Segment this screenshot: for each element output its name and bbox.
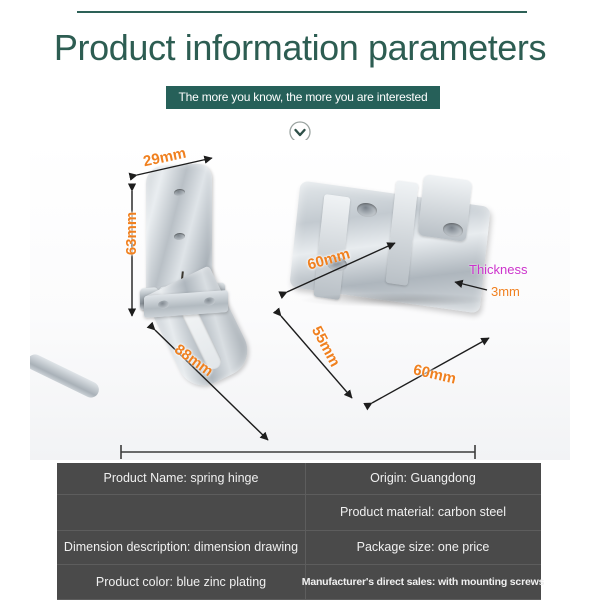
- screw-hole: [204, 297, 215, 306]
- product-info-page: Product information parameters The more …: [0, 0, 600, 600]
- product-photo-stage: [30, 140, 570, 460]
- table-row: Package size: one price: [305, 531, 541, 565]
- screw-hole: [174, 233, 185, 241]
- secondary-hinge-arm: [30, 352, 102, 401]
- dimension-label-hinge-height: 63mm: [123, 212, 140, 255]
- page-title: Product information parameters: [0, 26, 600, 70]
- dimension-label-thickness-value: 3mm: [491, 284, 520, 299]
- subtitle-text: The more you know, the more you are inte…: [179, 91, 428, 104]
- thickness-label: Thickness: [469, 262, 528, 277]
- table-row: Origin: Guangdong: [305, 463, 541, 495]
- spec-table-left-column: Product Name: spring hinge Dimension des…: [57, 463, 306, 600]
- specification-table: Product Name: spring hinge Dimension des…: [57, 463, 541, 600]
- bracket-shadow: [299, 293, 488, 307]
- spec-table-right-column: Origin: Guangdong Product material: carb…: [305, 463, 541, 600]
- spring-hinge-product-image: [130, 165, 260, 365]
- table-row: Product color: blue zinc plating: [57, 565, 305, 600]
- table-row: Dimension description: dimension drawing: [57, 531, 305, 565]
- table-row: Product material: carbon steel: [305, 495, 541, 531]
- subtitle-banner: The more you know, the more you are inte…: [166, 86, 440, 109]
- table-row: [57, 495, 305, 531]
- screw-hole: [174, 189, 185, 197]
- table-row: Product Name: spring hinge: [57, 463, 305, 495]
- header-divider-rule: [77, 11, 527, 13]
- screw-hole: [158, 300, 169, 309]
- table-row: Manufacturer's direct sales: with mounti…: [305, 565, 541, 600]
